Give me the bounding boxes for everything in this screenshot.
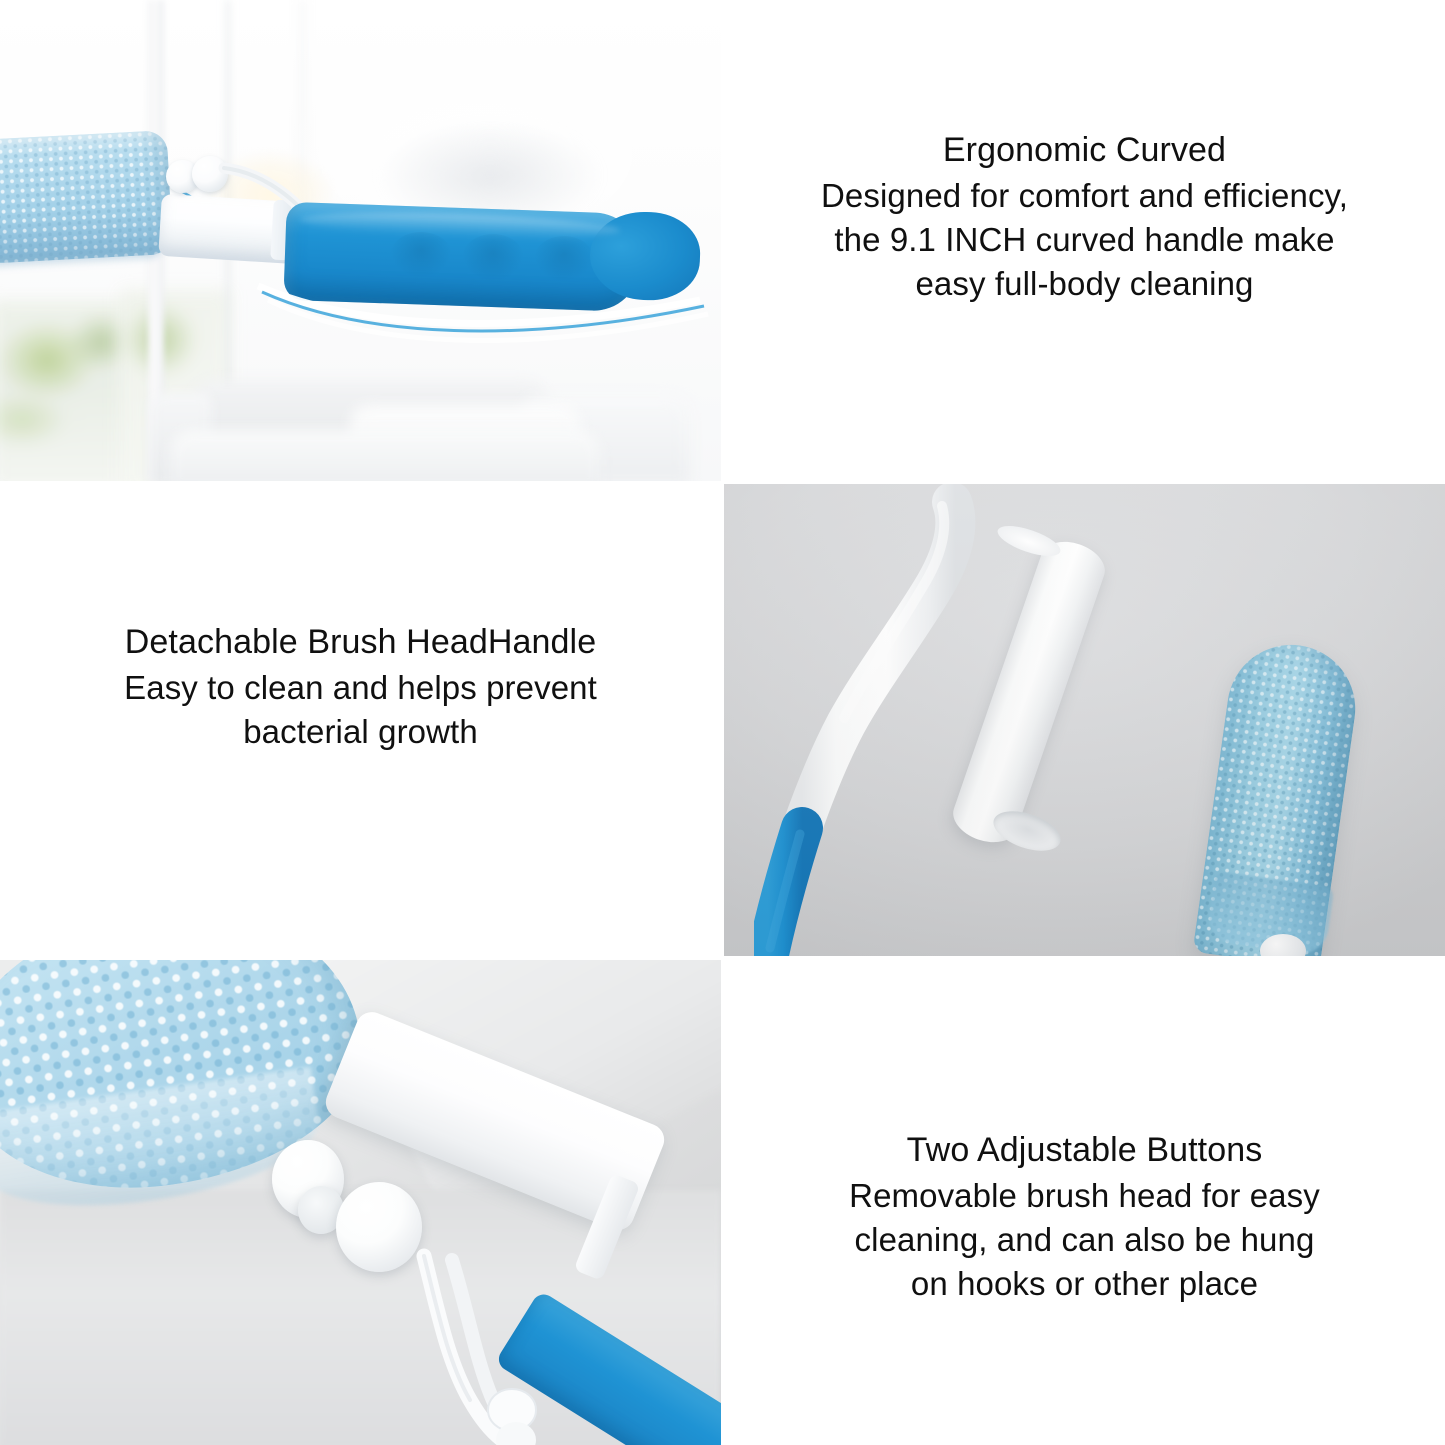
feature-body-line: Removable brush head for easy xyxy=(849,1174,1320,1218)
decorative-swoosh-lower xyxy=(0,0,721,481)
feature-title: Ergonomic Curved xyxy=(943,128,1226,172)
feature-body: Removable brush head for easy cleaning, … xyxy=(849,1174,1320,1306)
feature-body-line: Easy to clean and helps prevent xyxy=(124,666,597,710)
parts-vignette xyxy=(724,484,1445,956)
feature-body-line: Designed for comfort and efficiency, xyxy=(821,174,1348,218)
hanging-cord-loop xyxy=(0,960,721,1445)
feature-body: Easy to clean and helps prevent bacteria… xyxy=(124,666,597,754)
feature-body-line: bacterial growth xyxy=(124,710,597,754)
feature-body-line: easy full-body cleaning xyxy=(821,262,1348,306)
feature-text-ergonomic-curved: Ergonomic Curved Designed for comfort an… xyxy=(724,128,1445,306)
feature-body: Designed for comfort and efficiency, the… xyxy=(821,174,1348,306)
photo-disassembled-parts xyxy=(724,484,1445,956)
feature-body-line: the 9.1 INCH curved handle make xyxy=(821,218,1348,262)
feature-body-line: cleaning, and can also be hung xyxy=(849,1218,1320,1262)
product-infographic: Ergonomic Curved Designed for comfort an… xyxy=(0,0,1445,1445)
feature-title: Two Adjustable Buttons xyxy=(907,1128,1263,1172)
photo-hero-brush-in-room xyxy=(0,0,721,481)
feature-title: Detachable Brush HeadHandle xyxy=(125,620,596,664)
feature-body-line: on hooks or other place xyxy=(849,1262,1320,1306)
feature-text-two-adjustable-buttons: Two Adjustable Buttons Removable brush h… xyxy=(724,1128,1445,1306)
feature-text-detachable-brush-head: Detachable Brush HeadHandle Easy to clea… xyxy=(0,620,721,754)
photo-button-closeup xyxy=(0,960,721,1445)
